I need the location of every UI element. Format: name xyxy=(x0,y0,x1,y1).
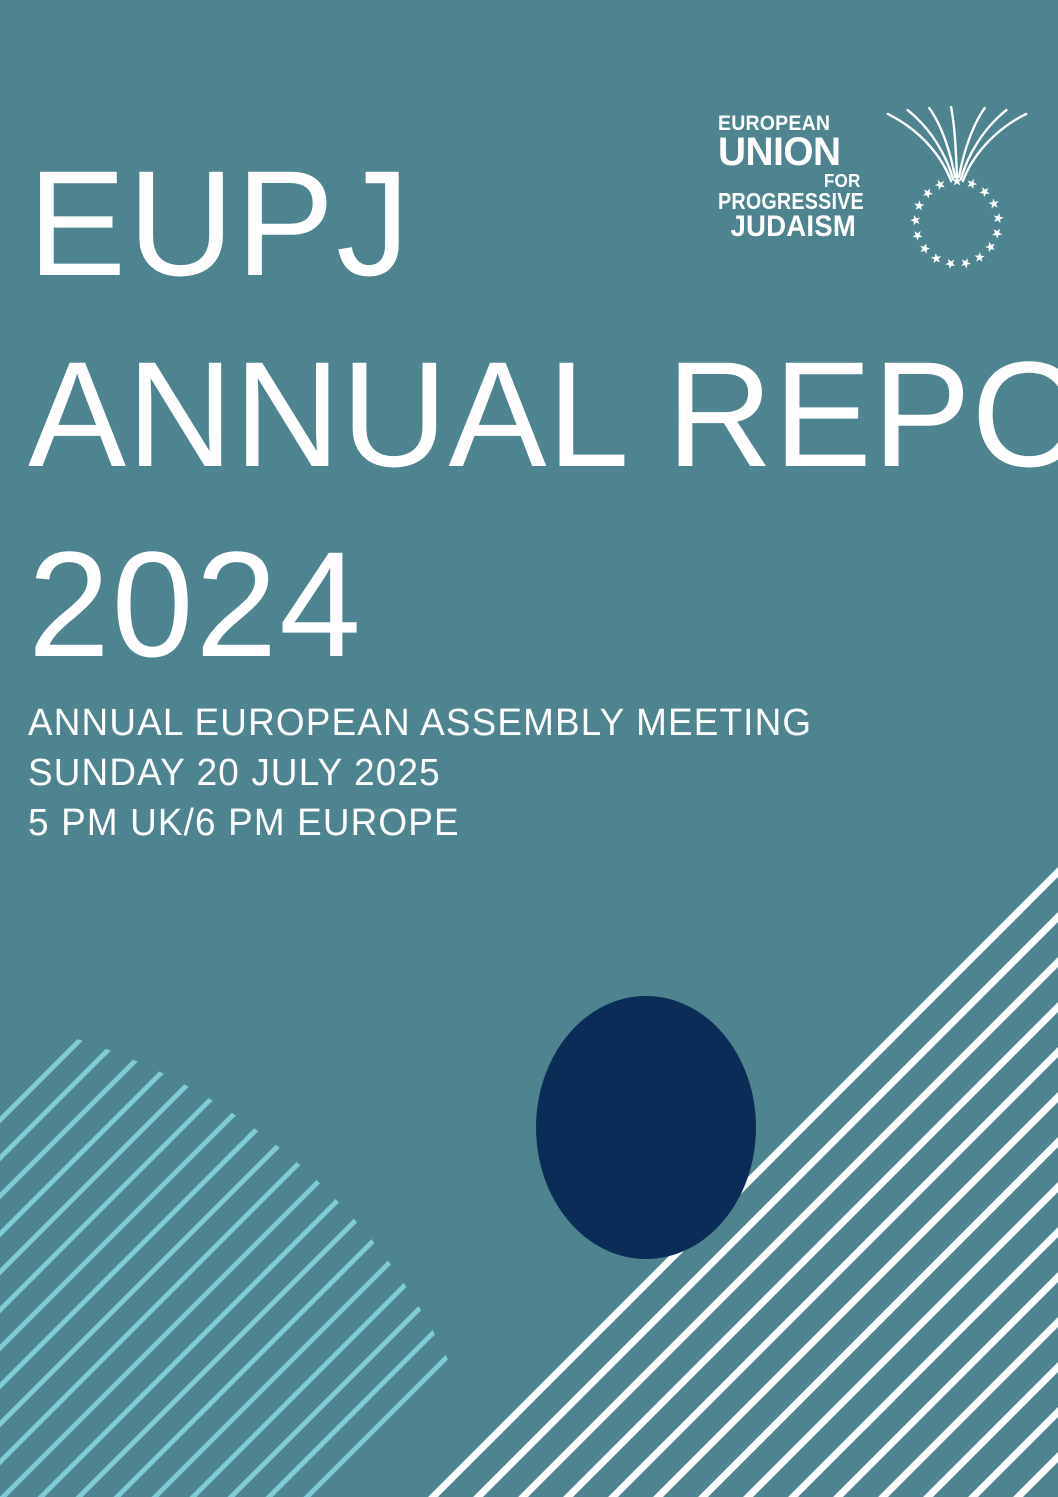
poster-canvas: EUROPEAN UNION FOR PROGRESSIVE JUDAISM xyxy=(0,0,1058,1497)
page-title: EUPJ ANNUAL REPORT 2024 xyxy=(28,128,1028,700)
subtitle-line-meeting: ANNUAL EUROPEAN ASSEMBLY MEETING xyxy=(28,698,812,748)
navy-ellipse xyxy=(536,996,756,1259)
title-line-eupj: EUPJ xyxy=(28,128,1008,319)
subtitle-line-date: SUNDAY 20 JULY 2025 xyxy=(28,748,812,798)
subtitle-block: ANNUAL EUROPEAN ASSEMBLY MEETING SUNDAY … xyxy=(28,698,836,848)
title-line-annual-report: ANNUAL REPORT xyxy=(28,319,1008,510)
subtitle-line-time: 5 PM UK/6 PM EUROPE xyxy=(28,798,812,848)
title-line-year: 2024 xyxy=(28,509,1008,700)
